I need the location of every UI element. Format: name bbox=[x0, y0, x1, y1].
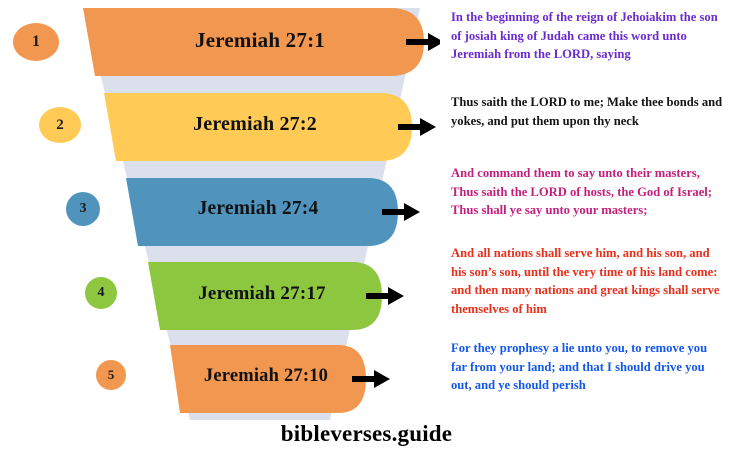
funnel-stage-3-label: Jeremiah 27:4 bbox=[132, 198, 384, 220]
funnel-graphic: Jeremiah 27:1 Jeremiah 27:2 Jeremiah 27:… bbox=[0, 0, 440, 425]
funnel-stage-1-label: Jeremiah 27:1 bbox=[120, 28, 400, 53]
footer-brand: bibleverses.guide bbox=[0, 421, 733, 447]
funnel-stage-2-badge-number: 2 bbox=[56, 117, 64, 134]
funnel-stage-1-badge: 1 bbox=[13, 23, 59, 61]
funnel-stage-4-label: Jeremiah 27:17 bbox=[148, 283, 376, 305]
verse-column: In the beginning of the reign of Jehoiak… bbox=[451, 0, 733, 425]
funnel-stage-2-label: Jeremiah 27:2 bbox=[120, 113, 390, 136]
funnel-stage-5-badge: 5 bbox=[96, 360, 126, 390]
funnel-stage-5-label: Jeremiah 27:10 bbox=[168, 366, 364, 387]
funnel-stage-4-badge: 4 bbox=[85, 277, 117, 309]
infographic-page: Jeremiah 27:1 Jeremiah 27:2 Jeremiah 27:… bbox=[0, 0, 733, 469]
verse-text-1: In the beginning of the reign of Jehoiak… bbox=[451, 8, 723, 64]
verse-text-2: Thus saith the LORD to me; Make thee bon… bbox=[451, 93, 723, 130]
funnel-stage-5-badge-number: 5 bbox=[108, 367, 115, 383]
verse-text-4: And all nations shall serve him, and his… bbox=[451, 244, 723, 318]
funnel-stage-1-badge-number: 1 bbox=[32, 33, 40, 51]
funnel-stage-3-badge: 3 bbox=[66, 192, 100, 226]
verse-text-3: And command them to say unto their maste… bbox=[451, 164, 723, 220]
funnel-stage-3-badge-number: 3 bbox=[80, 201, 87, 217]
verse-text-5: For they prophesy a lie unto you, to rem… bbox=[451, 339, 723, 395]
funnel-stage-2-badge: 2 bbox=[39, 107, 81, 143]
funnel-stage-4-badge-number: 4 bbox=[98, 285, 105, 301]
